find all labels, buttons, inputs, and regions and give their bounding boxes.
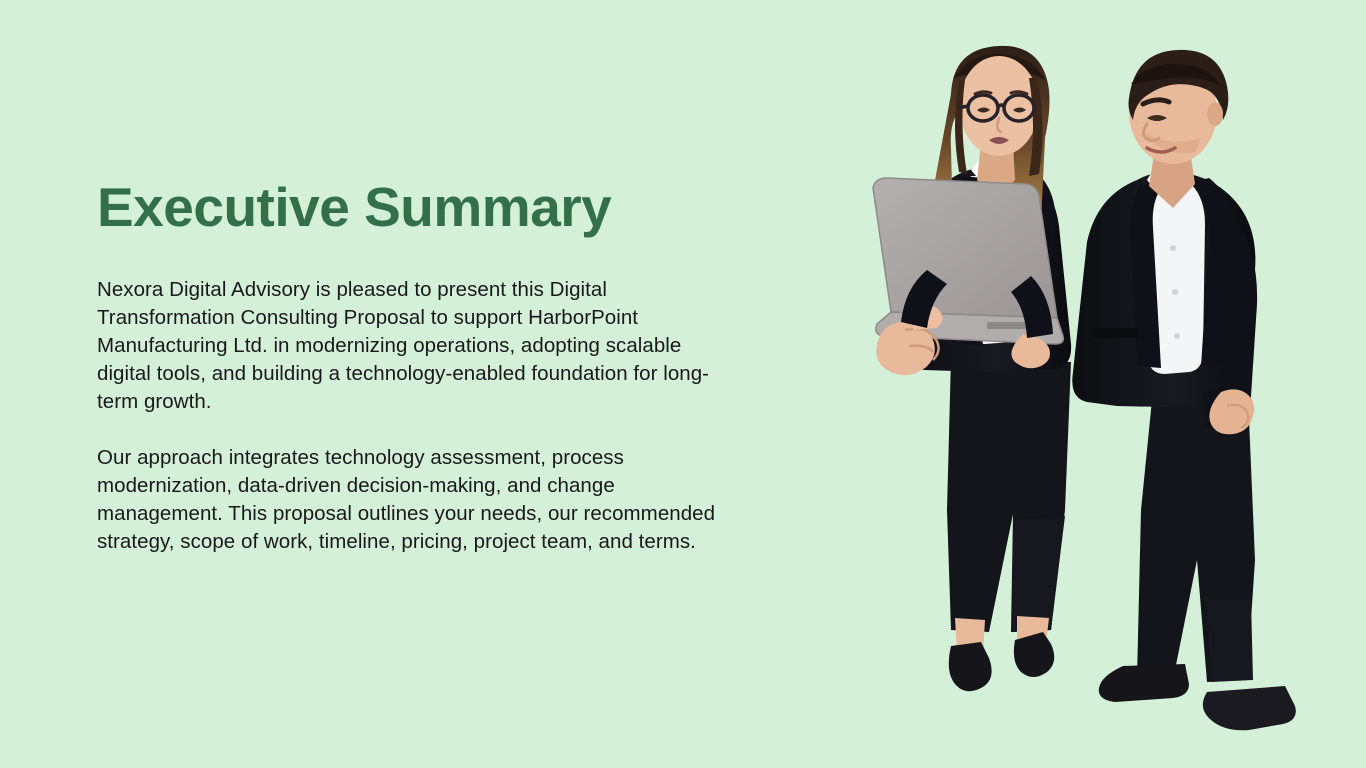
business-team-photo xyxy=(855,40,1315,740)
text-column: Executive Summary Nexora Digital Advisor… xyxy=(97,176,717,556)
slide-root: Executive Summary Nexora Digital Advisor… xyxy=(0,0,1366,768)
body-copy: Nexora Digital Advisory is pleased to pr… xyxy=(97,276,717,556)
page-title: Executive Summary xyxy=(97,176,717,238)
paragraph-1: Nexora Digital Advisory is pleased to pr… xyxy=(97,276,717,416)
paragraph-2: Our approach integrates technology asses… xyxy=(97,444,717,556)
